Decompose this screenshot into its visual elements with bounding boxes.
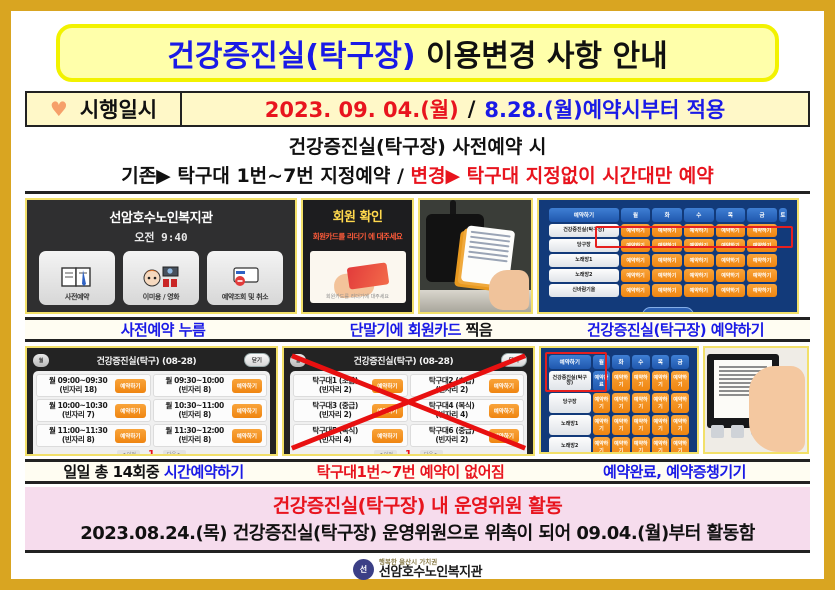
- caption-complete-receipt: 예약완료, 예약증챙기기: [539, 461, 810, 482]
- book-icon: [56, 262, 98, 292]
- committee-line: 2023.08.24.(목) 건강증진실(탁구장) 운영위원으로 위촉이 되어 …: [25, 519, 810, 545]
- grid-cell[interactable]: 예약하기: [684, 224, 714, 237]
- committee-notice-block: 건강증진실(탁구장) 내 운영위원 활동 2023.08.24.(목) 건강증진…: [25, 487, 810, 553]
- table-header-row: 예약하기 월 화 수 목 금 토: [549, 208, 787, 222]
- slot-reserve-button[interactable]: 예약하기: [232, 429, 262, 443]
- caption-row-1: 사전예약 누름 단말기에 회원카드 찍음 건강증진실(탁구장) 예약하기: [25, 317, 810, 342]
- subline-before: 기존▶ 탁구대 1번~7번 지정예약: [121, 165, 390, 187]
- grid-cell[interactable]: 예약하기: [612, 437, 630, 454]
- kiosk-button-beauty-movie-label: 이미용 / 영화: [143, 292, 179, 302]
- grid-cell-empty: [779, 239, 787, 252]
- grid-col-5: 금: [747, 208, 777, 222]
- table-row: 노래방1 예약하기 예약하기 예약하기 예약하기 예약하기: [549, 254, 787, 267]
- grid-cell[interactable]: 예약하기: [652, 269, 682, 282]
- poster-inner: 건강증진실(탁구장) 이용변경 사항 안내 ♥ 시행일시 2023. 09. 0…: [11, 11, 824, 579]
- divider-rule: [25, 191, 810, 194]
- grid-footer: 예약완료: [547, 303, 789, 314]
- grid-cell[interactable]: 예약하기: [652, 254, 682, 267]
- table-row: 노래방1 예약하기 예약하기 예약하기 예약하기 예약하기: [549, 415, 689, 435]
- slot-screen-title: 건강증진실(탁구) (08-28): [53, 354, 240, 367]
- committee-heading: 건강증진실(탁구장) 내 운영위원 활동: [25, 491, 810, 518]
- grid-col-0: 예약하기: [549, 208, 619, 222]
- table-row: 건강증진실(탁구장) 예약완료 예약하기 예약하기 예약하기 예약하기: [549, 371, 689, 391]
- grid-cell[interactable]: 예약하기: [716, 269, 746, 282]
- grid-cell[interactable]: 예약하기: [684, 254, 714, 267]
- grid-cell[interactable]: 예약하기: [716, 224, 746, 237]
- effective-date-label: 시행일시: [80, 94, 157, 124]
- caption-tables-removed: 탁구대1번~7번 예약이 없어짐: [282, 461, 539, 482]
- grid-cell[interactable]: 예약하기: [671, 393, 689, 413]
- grid-cell[interactable]: 예약하기: [716, 284, 746, 297]
- grid-col-6: 토: [779, 208, 787, 222]
- slot-reserve-button[interactable]: 예약하기: [232, 379, 262, 393]
- subline-change: 기존▶ 탁구대 1번~7번 지정예약 / 변경▶ 탁구대 지정없이 시간대만 예…: [25, 161, 810, 188]
- done-col-3: 수: [632, 355, 650, 369]
- grid-cell[interactable]: 예약하기: [593, 415, 611, 435]
- done-col-0: 예약하기: [549, 355, 591, 369]
- slot-panel: 월 09:00~09:30(빈자리 18) 예약하기 월 09:30~10:00…: [33, 371, 270, 456]
- grid-cell[interactable]: 예약하기: [652, 415, 670, 435]
- slot-reserve-button[interactable]: 예약하기: [115, 429, 145, 443]
- grid-col-2: 화: [652, 208, 682, 222]
- grid-col-3: 수: [684, 208, 714, 222]
- slot-vacancy: (빈자리 8): [62, 435, 95, 444]
- list-item[interactable]: 월 09:00~09:30(빈자리 18) 예약하기: [36, 374, 151, 397]
- day-badge: 월: [33, 354, 49, 367]
- table-row: 건강증진실(탁구장) 예약하기 예약하기 예약하기 예약하기 예약하기: [549, 224, 787, 237]
- done-col-5: 금: [671, 355, 689, 369]
- reservation-complete-button[interactable]: 예약완료: [642, 307, 694, 314]
- footer-logo: 선 행복한 울산시 가치권 선암호수노인복지관: [25, 559, 810, 580]
- caption-tag-card-black: 찍음: [461, 321, 492, 339]
- kiosk-button-inquiry-cancel[interactable]: 예약조회 및 취소: [207, 251, 283, 305]
- kiosk-button-beauty-movie[interactable]: 이미용 / 영화: [123, 251, 199, 305]
- done-row-label-3: 노래방2: [549, 437, 591, 454]
- list-item[interactable]: 월 11:00~11:30(빈자리 8) 예약하기: [36, 424, 151, 447]
- list-item[interactable]: 월 10:30~11:00(빈자리 8) 예약하기: [153, 399, 268, 422]
- grid-cell[interactable]: 예약하기: [671, 371, 689, 391]
- effective-date-value-cell: 2023. 09. 04.(월) / 8.28.(월)예약시부터 적용: [182, 93, 808, 125]
- caption-daily-time-booking: 일일 총 14회중 시간예약하기: [25, 461, 282, 482]
- heart-icon: ♥: [50, 99, 68, 119]
- grid-cell[interactable]: 예약하기: [621, 269, 651, 282]
- organization-logo-icon: 선: [353, 559, 374, 580]
- grid-row-label-4: 신바람기을: [549, 284, 619, 297]
- grid-cell[interactable]: 예약하기: [612, 371, 630, 391]
- kiosk-button-mid-icon[interactable]: [731, 425, 744, 438]
- pagination: ◀ 이전 1 다음 ▶: [36, 449, 267, 456]
- grid-row-label-3: 노래방2: [549, 269, 619, 282]
- poster-root: 건강증진실(탁구장) 이용변경 사항 안내 ♥ 시행일시 2023. 09. 0…: [0, 0, 835, 590]
- grid-cell[interactable]: 예약하기: [593, 437, 611, 454]
- member-check-title: 회원 확인: [303, 206, 412, 225]
- grid-cell[interactable]: 예약하기: [652, 393, 670, 413]
- kiosk-button-prebooking-label: 사전예약: [65, 292, 89, 302]
- grid-cell[interactable]: 예약하기: [632, 437, 650, 454]
- grid-cell[interactable]: 예약하기: [652, 371, 670, 391]
- subline-prebooking: 건강증진실(탁구장) 사전예약 시: [25, 132, 810, 159]
- grid-row-label-2: 노래방1: [549, 254, 619, 267]
- done-col-2: 화: [612, 355, 630, 369]
- page-title-black: 이용변경 사항 안내: [416, 39, 668, 74]
- done-row-label-1: 당구장: [549, 393, 591, 413]
- grid-cell[interactable]: 예약하기: [684, 239, 714, 252]
- grid-cell-empty: [779, 269, 787, 282]
- page-prev-button[interactable]: ◀ 이전: [117, 450, 140, 456]
- footer-logo-texts: 행복한 울산시 가치권 선암호수노인복지관: [379, 559, 482, 579]
- effective-date-secondary: 8.28.(월)예약시부터 적용: [484, 94, 725, 124]
- slot-header-bar: 월 건강증진실(탁구) (08-28) 닫기: [33, 353, 270, 367]
- photo-table-list-cancelled: 월 건강증진실(탁구) (08-28) 닫기 탁구대1 (초급)(빈자리 2) …: [282, 346, 535, 456]
- kiosk-button-left-icon[interactable]: [711, 425, 724, 438]
- hand-thumb-shape: [489, 270, 529, 310]
- kiosk-button-inquiry-cancel-label: 예약조회 및 취소: [222, 292, 268, 302]
- grid-cell[interactable]: 예약하기: [621, 224, 651, 237]
- list-item[interactable]: 월 11:30~12:00(빈자리 8) 예약하기: [153, 424, 268, 447]
- grid-cell[interactable]: 예약하기: [671, 415, 689, 435]
- red-x-overlay-icon: [284, 348, 533, 454]
- caption-daily-black: 일일 총 14회중: [63, 463, 164, 481]
- effective-date-separator: /: [468, 97, 476, 121]
- reservation-done-table: 예약하기 월 화 수 목 금 건강증진실(탁구장) 예약완료 예약하기 예약하기…: [547, 353, 691, 454]
- photo-receipt-pickup: [703, 346, 809, 454]
- grid-cell[interactable]: 예약하기: [612, 415, 630, 435]
- grid-cell[interactable]: 예약하기: [747, 284, 777, 297]
- photo-row-bottom: 월 건강증진실(탁구) (08-28) 닫기 월 09:00~09:30(빈자리…: [25, 346, 810, 456]
- slot-vacancy: (빈자리 8): [178, 435, 211, 444]
- done-row-label-0: 건강증진실(탁구장): [549, 371, 591, 391]
- page-next-button[interactable]: 다음 ▶: [163, 450, 186, 456]
- grid-row-label-0: 건강증진실(탁구장): [549, 224, 619, 237]
- table-header-row: 예약하기 월 화 수 목 금: [549, 355, 689, 369]
- table-row: 노래방2 예약하기 예약하기 예약하기 예약하기 예약하기: [549, 437, 689, 454]
- list-item[interactable]: 월 10:00~10:30(빈자리 7) 예약하기: [36, 399, 151, 422]
- caption-tag-card: 단말기에 회원카드 찍음: [301, 319, 541, 340]
- grid-cell-reserved[interactable]: 예약완료: [593, 371, 611, 391]
- membership-card-icon: [346, 262, 389, 289]
- grid-row-label-1: 당구장: [549, 239, 619, 252]
- grid-col-1: 월: [621, 208, 651, 222]
- effective-date-primary: 2023. 09. 04.(월): [265, 94, 459, 124]
- grid-cell[interactable]: 예약하기: [747, 269, 777, 282]
- member-check-instruction: 회원카드를 리더기 에 대주세요: [303, 231, 412, 242]
- grid-cell[interactable]: 예약하기: [621, 254, 651, 267]
- slot-reserve-button[interactable]: 예약하기: [232, 404, 262, 418]
- grid-cell-empty: [779, 224, 787, 237]
- grid-cell[interactable]: 예약하기: [632, 371, 650, 391]
- grid-cell[interactable]: 예약하기: [684, 284, 714, 297]
- grid-cell[interactable]: 예약하기: [671, 437, 689, 454]
- photo-row-top: 선암호수노인복지관 오전 9:40 사전예약: [25, 198, 810, 314]
- face-film-icon: [140, 262, 182, 292]
- table-row: 당구장 예약하기 예약하기 예약하기 예약하기 예약하기: [549, 239, 787, 252]
- kiosk-button-prebooking[interactable]: 사전예약: [39, 251, 115, 305]
- slot-grid: 월 09:00~09:30(빈자리 18) 예약하기 월 09:30~10:00…: [36, 374, 267, 447]
- caption-reserve-room: 건강증진실(탁구장) 예약하기: [541, 319, 810, 340]
- page-title-blue: 건강증진실(탁구장): [167, 39, 415, 74]
- close-button[interactable]: 닫기: [244, 353, 270, 367]
- footer-organization-name: 선암호수노인복지관: [379, 566, 482, 580]
- reservation-grid-table: 예약하기 월 화 수 목 금 토 건강증진실(탁구장) 예약하기 예약하기 예약…: [547, 206, 789, 299]
- caption-daily-blue: 시간예약하기: [164, 463, 244, 481]
- slot-vacancy: (빈자리 18): [59, 385, 96, 394]
- grid-cell[interactable]: 예약하기: [747, 239, 777, 252]
- effective-date-label-cell: ♥ 시행일시: [27, 93, 182, 125]
- caption-press-prebooking: 사전예약 누름: [25, 319, 301, 340]
- card-cancel-icon: [224, 262, 266, 292]
- table-row: 당구장 예약하기 예약하기 예약하기 예약하기 예약하기: [549, 393, 689, 413]
- photo-kiosk-main-menu: 선암호수노인복지관 오전 9:40 사전예약: [25, 198, 297, 314]
- member-card-illustration: 회원카드를 리더기에 대주세요: [310, 251, 406, 303]
- grid-cell[interactable]: 예약하기: [632, 415, 650, 435]
- grid-cell[interactable]: 예약하기: [652, 284, 682, 297]
- table-row: 신바람기을 예약하기 예약하기 예약하기 예약하기 예약하기: [549, 284, 787, 297]
- grid-cell-empty: [779, 284, 787, 297]
- photo-time-slot-list: 월 건강증진실(탁구) (08-28) 닫기 월 09:00~09:30(빈자리…: [25, 346, 278, 456]
- grid-cell[interactable]: 예약하기: [747, 254, 777, 267]
- grid-cell[interactable]: 예약하기: [621, 284, 651, 297]
- slot-reserve-button[interactable]: 예약하기: [115, 404, 145, 418]
- grid-cell[interactable]: 예약하기: [652, 239, 682, 252]
- grid-cell[interactable]: 예약하기: [593, 393, 611, 413]
- photo-member-check: 회원 확인 회원카드를 리더기 에 대주세요 회원카드를 리더기에 대주세요: [301, 198, 414, 314]
- grid-cell[interactable]: 예약하기: [716, 239, 746, 252]
- kiosk-center-name: 선암호수노인복지관: [27, 207, 295, 226]
- subline-after: 변경▶ 탁구대 지정없이 시간대만 예약: [411, 165, 714, 187]
- effective-date-row: ♥ 시행일시 2023. 09. 04.(월) / 8.28.(월)예약시부터 …: [25, 91, 810, 127]
- photo-reservation-complete-grid: 예약하기 월 화 수 목 금 건강증진실(탁구장) 예약완료 예약하기 예약하기…: [539, 346, 699, 454]
- subline-divider: /: [390, 165, 410, 187]
- page-number: 1: [148, 449, 155, 456]
- list-item[interactable]: 월 09:30~10:00(빈자리 8) 예약하기: [153, 374, 268, 397]
- kiosk-button-group: 사전예약 이미용 / 영화: [27, 251, 295, 305]
- done-row-label-2: 노래방1: [549, 415, 591, 435]
- photo-card-reader: [418, 198, 533, 314]
- slot-vacancy: (빈자리 8): [178, 385, 211, 394]
- grid-cell[interactable]: 예약하기: [684, 269, 714, 282]
- caption-tag-card-blue: 단말기에 회원카드: [350, 321, 461, 339]
- photo-reservation-grid: 예약하기 월 화 수 목 금 토 건강증진실(탁구장) 예약하기 예약하기 예약…: [537, 198, 799, 314]
- slot-vacancy: (빈자리 7): [62, 410, 95, 419]
- grid-cell[interactable]: 예약하기: [632, 393, 650, 413]
- member-card-caption: 회원카드를 리더기에 대주세요: [310, 293, 406, 300]
- slot-vacancy: (빈자리 8): [178, 410, 211, 419]
- grid-cell[interactable]: 예약하기: [621, 239, 651, 252]
- table-row: 노래방2 예약하기 예약하기 예약하기 예약하기 예약하기: [549, 269, 787, 282]
- slot-reserve-button[interactable]: 예약하기: [115, 379, 145, 393]
- grid-cell[interactable]: 예약하기: [747, 224, 777, 237]
- caption-row-2: 일일 총 14회중 시간예약하기 탁구대1번~7번 예약이 없어짐 예약완료, …: [25, 459, 810, 484]
- done-col-1: 월: [593, 355, 611, 369]
- hand-taking-receipt-shape: [749, 366, 805, 452]
- grid-cell[interactable]: 예약하기: [716, 254, 746, 267]
- grid-col-4: 목: [716, 208, 746, 222]
- page-title: 건강증진실(탁구장) 이용변경 사항 안내: [56, 24, 779, 82]
- grid-cell[interactable]: 예약하기: [612, 393, 630, 413]
- grid-cell[interactable]: 예약하기: [652, 437, 670, 454]
- done-col-4: 목: [652, 355, 670, 369]
- grid-cell-empty: [779, 254, 787, 267]
- kiosk-clock: 오전 9:40: [27, 229, 295, 245]
- grid-cell[interactable]: 예약하기: [652, 224, 682, 237]
